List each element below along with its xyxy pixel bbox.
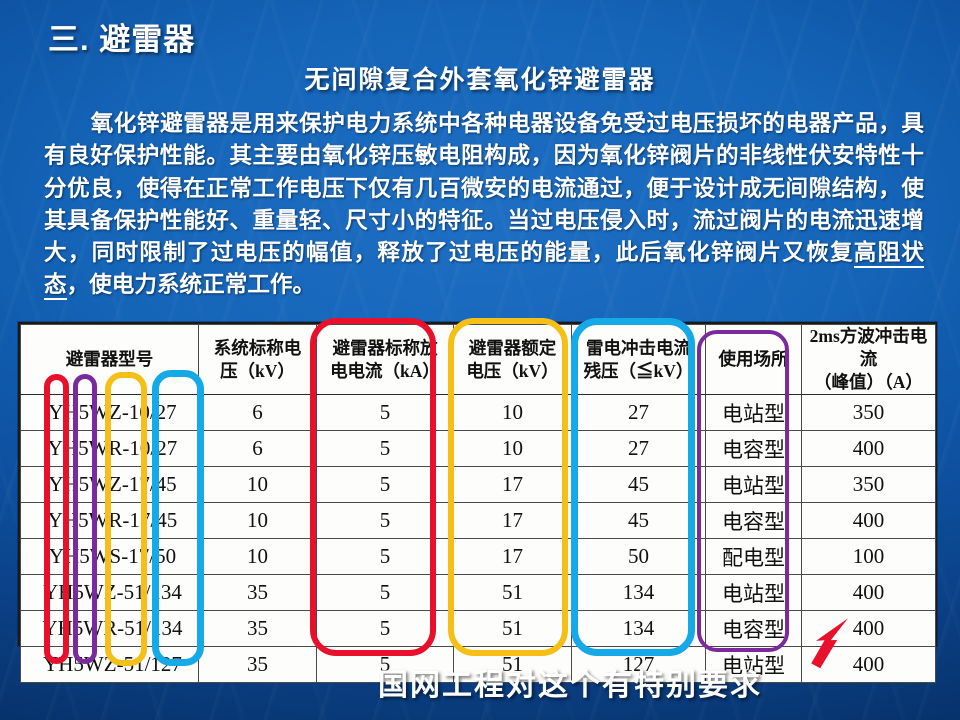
header-rated-voltage: 避雷器额定 电压（kV） [454,325,572,395]
table-row: YH5WZ-17/451051745电站型350 [21,467,936,503]
header-rated-line1: 避雷器额定 [456,337,569,360]
cell-nominal-discharge-current: 5 [317,395,454,431]
cell-residual-voltage: 134 [572,611,706,647]
header-resid-line1: 雷电冲击电流 [574,337,703,360]
header-model: 避雷器型号 [21,325,199,395]
table-row: YH5WR-17/451051745电容型400 [21,503,936,539]
cell-model: YH5WZ-10/27 [21,395,199,431]
cell-residual-voltage: 45 [572,467,706,503]
header-sysv-line2: 压（kV） [201,360,314,383]
header-disc-line1: 避雷器标称放 [319,337,451,360]
slide-canvas: 三. 避雷器 无间隙复合外套氧化锌避雷器 氧化锌避雷器是用来保护电力系统中各种电… [0,0,960,720]
header-place-line1: 使用场所 [708,348,799,371]
cell-residual-voltage: 27 [572,431,706,467]
cell-system-nominal-voltage: 35 [199,575,317,611]
table-row: YH5WR-51/13435551134电容型400 [21,611,936,647]
cell-model: YH5WR-10/27 [21,431,199,467]
cell-usage-place: 电站型 [706,575,802,611]
cell-system-nominal-voltage: 35 [199,611,317,647]
cell-usage-place: 配电型 [706,539,802,575]
header-system-nominal-voltage: 系统标称电 压（kV） [199,325,317,395]
cell-system-nominal-voltage: 6 [199,395,317,431]
cell-nominal-discharge-current: 5 [317,431,454,467]
body-paragraph: 氧化锌避雷器是用来保护电力系统中各种电器设备免受过电压损坏的电器产品，具有良好保… [44,108,924,302]
cell-usage-place: 电站型 [706,467,802,503]
header-resid-line2: 残压（≦kV） [574,360,703,383]
header-sqw-line1: 2ms方波冲击电流 [804,325,933,371]
section-title: 三. 避雷器 [48,14,195,59]
cell-residual-voltage: 50 [572,539,706,575]
cell-nominal-discharge-current: 5 [317,503,454,539]
header-residual-voltage: 雷电冲击电流 残压（≦kV） [572,325,706,395]
header-rated-line2: 电压（kV） [456,360,569,383]
cell-square-wave-current: 100 [802,539,936,575]
header-usage-place: 使用场所 [706,325,802,395]
cell-nominal-discharge-current: 5 [317,467,454,503]
cell-nominal-discharge-current: 5 [317,611,454,647]
cell-usage-place: 电容型 [706,431,802,467]
cell-square-wave-current: 400 [802,575,936,611]
cell-nominal-discharge-current: 5 [317,575,454,611]
cell-square-wave-current: 350 [802,395,936,431]
callout-arrow-icon [800,612,860,674]
cell-model: YH5WR-17/45 [21,503,199,539]
cell-rated-voltage: 10 [454,431,572,467]
slide-subtitle: 无间隙复合外套氧化锌避雷器 [0,60,960,96]
cell-rated-voltage: 51 [454,611,572,647]
cell-rated-voltage: 17 [454,539,572,575]
specification-table-container: 避雷器型号 系统标称电 压（kV） 避雷器标称放 电电流（kA） 避雷器额定 电… [18,322,937,646]
table-row: YH5WZ-10/27651027电站型350 [21,395,936,431]
table-row: YH5WZ-51/13435551134电站型400 [21,575,936,611]
cell-rated-voltage: 17 [454,467,572,503]
cell-usage-place: 电容型 [706,503,802,539]
table-row: YH5WR-10/27651027电容型400 [21,431,936,467]
cell-system-nominal-voltage: 10 [199,467,317,503]
cell-usage-place: 电站型 [706,395,802,431]
table-row: YH5WS-17/501051750配电型100 [21,539,936,575]
table-body: YH5WZ-10/27651027电站型350YH5WR-10/27651027… [21,395,936,683]
cell-square-wave-current: 350 [802,467,936,503]
cell-model: YH5WS-17/50 [21,539,199,575]
cell-system-nominal-voltage: 10 [199,503,317,539]
header-sysv-line1: 系统标称电 [201,337,314,360]
cell-system-nominal-voltage: 6 [199,431,317,467]
cell-residual-voltage: 45 [572,503,706,539]
header-nominal-discharge-current: 避雷器标称放 电电流（kA） [317,325,454,395]
cell-square-wave-current: 400 [802,431,936,467]
cell-square-wave-current: 400 [802,503,936,539]
table-header-row: 避雷器型号 系统标称电 压（kV） 避雷器标称放 电电流（kA） 避雷器额定 电… [21,325,936,395]
cell-rated-voltage: 10 [454,395,572,431]
header-sqw-line2: （峰值）（A） [804,371,933,394]
cell-model: YH5WR-51/134 [21,611,199,647]
paragraph-text-part2: ，使电力系统正常工作。 [67,272,316,297]
cell-usage-place: 电容型 [706,611,802,647]
header-disc-line2: 电电流（kA） [319,360,451,383]
cell-rated-voltage: 51 [454,575,572,611]
cell-model: YH5WZ-17/45 [21,467,199,503]
cell-nominal-discharge-current: 5 [317,539,454,575]
cell-rated-voltage: 17 [454,503,572,539]
cell-model: YH5WZ-51/134 [21,575,199,611]
specification-table: 避雷器型号 系统标称电 压（kV） 避雷器标称放 电电流（kA） 避雷器额定 电… [20,324,936,683]
cell-residual-voltage: 134 [572,575,706,611]
cell-system-nominal-voltage: 10 [199,539,317,575]
cell-residual-voltage: 27 [572,395,706,431]
header-model-line1: 避雷器型号 [23,348,196,371]
header-square-wave-current: 2ms方波冲击电流 （峰值）（A） [802,325,936,395]
paragraph-text-part1: 氧化锌避雷器是用来保护电力系统中各种电器设备免受过电压损坏的电器产品，具有良好保… [44,111,924,265]
